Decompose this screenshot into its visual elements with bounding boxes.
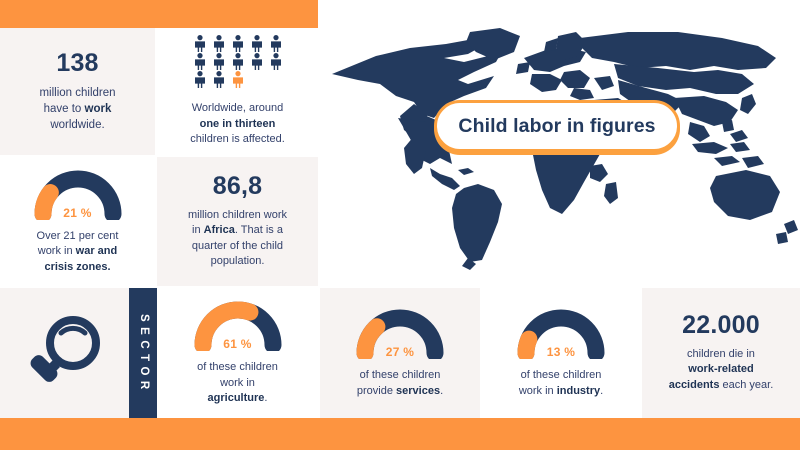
caption-line-1: of these children: [197, 361, 278, 373]
gauge-arc-13: 13 %: [512, 307, 610, 359]
person-icon: [250, 35, 264, 52]
caption-line-4: population.: [211, 255, 265, 267]
caption-line-1: children die in: [687, 348, 755, 360]
stat-card-children-working: 138 million children have to work worldw…: [0, 28, 155, 155]
caption-line-2-bold: Africa: [204, 224, 235, 236]
person-icon: [212, 53, 226, 70]
person-icon: [193, 71, 207, 88]
caption-line-2-pre: have to: [44, 103, 85, 115]
caption-line-3-bold: crisis zones.: [44, 261, 110, 273]
sector-icon-card: [0, 288, 129, 418]
caption-line-3-post: .: [264, 392, 267, 404]
gauge-industry: 13 %: [512, 307, 610, 359]
caption-line-2-pre: provide: [357, 385, 396, 397]
person-icon: [250, 53, 264, 70]
stat-number-868: 86,8: [213, 174, 262, 199]
caption-line-3-bold: agriculture: [208, 392, 265, 404]
caption-line-2-post: . That is a: [235, 224, 283, 236]
world-map: [318, 18, 800, 286]
caption-line-1: million children: [39, 87, 115, 99]
caption-line-1: million children work: [188, 209, 287, 221]
stat-caption-ratio: Worldwide, around one in thirteen childr…: [190, 101, 285, 148]
person-icon: [212, 71, 226, 88]
caption-line-2-bold: one in thirteen: [200, 118, 276, 130]
caption-line-2-bold: work-related: [688, 363, 753, 375]
caption-line-1: of these children: [521, 369, 602, 381]
stat-number-138: 138: [56, 51, 98, 76]
caption-line-3: quarter of the child: [192, 240, 283, 252]
stat-card-war-zones: 21 % Over 21 per cent work in war and cr…: [0, 157, 155, 286]
gauge-label-61: 61 %: [189, 337, 287, 351]
bottom-orange-bar: [0, 418, 800, 450]
sector-caption-industry: of these children work in industry.: [519, 368, 603, 399]
gauge-services: 27 %: [351, 307, 449, 359]
stat-caption-africa: million children work in Africa. That is…: [188, 208, 287, 270]
person-icon: [231, 53, 245, 70]
person-icon: [193, 53, 207, 70]
caption-line-3: worldwide.: [50, 119, 104, 131]
sector-caption-agriculture: of these children work in agriculture.: [197, 360, 278, 407]
caption-line-3: children is affected.: [190, 133, 285, 145]
caption-line-2-pre: work in: [38, 245, 76, 257]
sector-caption-services: of these children provide services.: [357, 368, 443, 399]
person-icon: [212, 35, 226, 52]
top-orange-bar: [0, 0, 318, 28]
person-icon: [269, 35, 283, 52]
sector-card-agriculture: 61 % of these children work in agricultu…: [157, 288, 318, 418]
person-icon: [269, 53, 283, 70]
stat-card-africa: 86,8 million children work in Africa. Th…: [157, 157, 318, 286]
infographic-canvas: Child labor in figures 138 million child…: [0, 0, 800, 450]
caption-line-2-bold: services: [396, 385, 440, 397]
page-title: Child labor in figures: [458, 115, 655, 138]
caption-line-2-pre: in: [192, 224, 204, 236]
caption-line-2-bold: war and: [76, 245, 118, 257]
caption-line-3-post: each year.: [719, 379, 773, 391]
caption-line-1: of these children: [360, 369, 441, 381]
gauge-label-13: 13 %: [512, 345, 610, 359]
stat-caption-children-working: million children have to work worldwide.: [39, 85, 115, 133]
sector-label-bar: SECTOR: [129, 288, 157, 418]
people-pictogram-icon: [191, 35, 285, 88]
gauge-label-21: 21 %: [29, 206, 127, 220]
gauge-agriculture: 61 %: [189, 299, 287, 351]
caption-line-2-bold: work: [85, 103, 112, 115]
gauge-arc-61: 61 %: [189, 299, 287, 351]
stat-caption-war-zones: Over 21 per cent work in war and crisis …: [37, 229, 119, 276]
person-icon: [231, 35, 245, 52]
stat-caption-deaths: children die in work-related accidents e…: [669, 347, 774, 394]
gauge-label-27: 27 %: [351, 345, 449, 359]
gauge-war-zones: 21 %: [29, 168, 127, 220]
caption-line-1: Worldwide, around: [192, 102, 284, 114]
caption-line-2-bold: industry: [557, 385, 600, 397]
sector-card-industry: 13 % of these children work in industry.: [482, 288, 640, 418]
person-icon: [193, 35, 207, 52]
magnifier-icon: [23, 311, 107, 395]
caption-line-3-bold: accidents: [669, 379, 720, 391]
person-icon: [231, 71, 245, 88]
stat-number-22000: 22.000: [682, 313, 760, 338]
gauge-arc-21: 21 %: [29, 168, 127, 220]
caption-line-2-post: .: [440, 385, 443, 397]
sector-label: SECTOR: [137, 311, 149, 395]
stat-card-deaths: 22.000 children die in work-related acci…: [642, 288, 800, 418]
caption-line-2: work in: [220, 377, 255, 389]
caption-line-2-post: .: [600, 385, 603, 397]
title-badge: Child labor in figures: [434, 100, 680, 152]
caption-line-1: Over 21 per cent: [37, 230, 119, 242]
caption-line-2-pre: work in: [519, 385, 557, 397]
sector-card-services: 27 % of these children provide services.: [320, 288, 480, 418]
gauge-arc-27: 27 %: [351, 307, 449, 359]
stat-card-ratio: Worldwide, around one in thirteen childr…: [157, 28, 318, 155]
